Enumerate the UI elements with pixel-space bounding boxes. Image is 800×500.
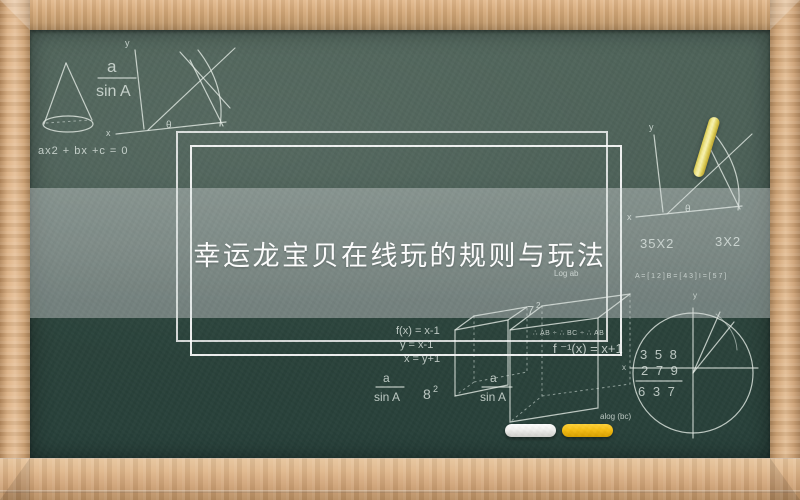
frame-miter-bottom-right — [770, 458, 800, 500]
svg-text:sin A: sin A — [96, 83, 131, 100]
svg-text:3 5 8: 3 5 8 — [640, 347, 679, 362]
chalk-long-division: 3 5 8 2 7 9 6 3 7 — [636, 347, 682, 399]
chalk-alog-bc: alog (bc) — [600, 412, 631, 421]
power-eight-squared: 8 2 — [423, 384, 438, 402]
frame-miter-bottom-left — [0, 458, 30, 500]
frame-right-rail — [770, 0, 800, 500]
svg-text:a: a — [490, 371, 497, 385]
svg-text:x: x — [622, 363, 626, 372]
frame-miter-top-left — [0, 0, 30, 30]
svg-text:a: a — [107, 57, 117, 76]
svg-text:8: 8 — [423, 386, 431, 402]
cone-drawing — [43, 63, 93, 132]
white-chalk-piece — [505, 424, 556, 437]
yellow-chalk-piece — [562, 424, 613, 437]
svg-text:y: y — [125, 38, 130, 48]
frame-miter-top-right — [770, 0, 800, 30]
chalkboard-banner: a sin A ax2 + bx +c = 0 y x θ — [0, 0, 800, 500]
frame-left-rail — [0, 0, 30, 500]
svg-text:sin A: sin A — [374, 390, 400, 404]
chalkboard-surface: a sin A ax2 + bx +c = 0 y x θ — [30, 30, 770, 458]
svg-text:a: a — [383, 371, 390, 385]
fraction-a-sin-a-1: a sin A — [96, 57, 136, 100]
svg-text:2: 2 — [433, 384, 438, 394]
fraction-a-sin-a-2: a sin A — [374, 371, 404, 404]
svg-text:sin A: sin A — [480, 390, 506, 404]
svg-text:x: x — [106, 128, 111, 138]
page-title: 幸运龙宝贝在线玩的规则与玩法 — [194, 234, 607, 273]
title-container: 幸运龙宝贝在线玩的规则与玩法 — [30, 188, 770, 318]
chalk-quadratic-equation: ax2 + bx +c = 0 — [38, 145, 129, 157]
frame-top-rail — [0, 0, 800, 30]
svg-text:2 7 9: 2 7 9 — [641, 363, 680, 378]
frame-bottom-ledge — [0, 458, 800, 500]
svg-text:y: y — [649, 122, 654, 132]
svg-text:θ: θ — [166, 120, 172, 131]
svg-text:6 3 7: 6 3 7 — [638, 384, 677, 399]
